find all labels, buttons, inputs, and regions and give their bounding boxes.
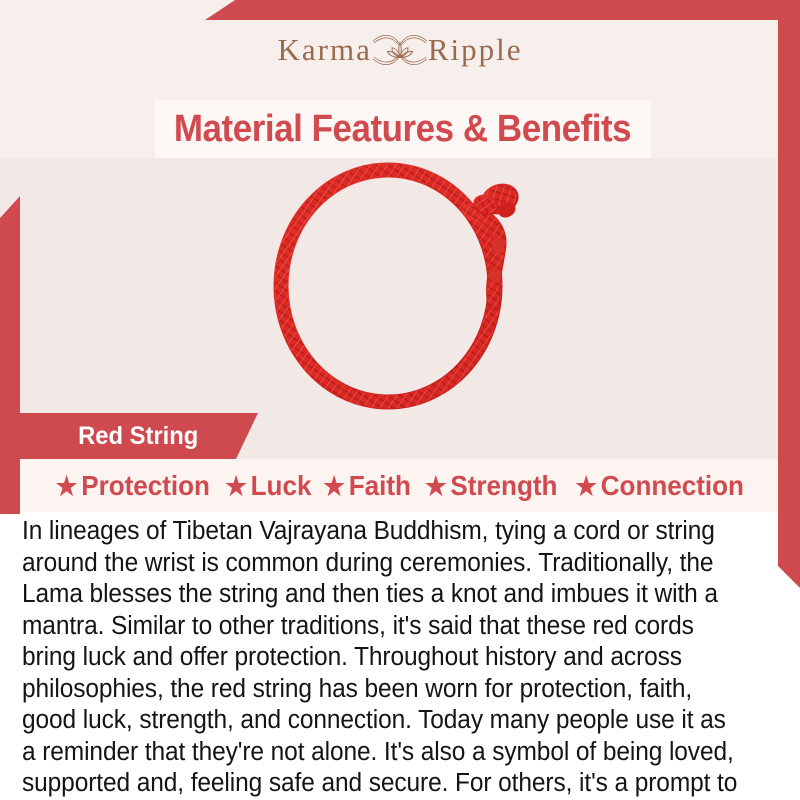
benefit-item-strength: ★Strength bbox=[423, 470, 561, 502]
infographic-page: Karma bbox=[0, 0, 800, 800]
material-name-label: Red String bbox=[78, 422, 198, 451]
benefit-item-connection: ★Connection bbox=[572, 470, 746, 502]
brand-logo: Karma bbox=[277, 28, 522, 72]
description-paragraph: In lineages of Tibetan Vajrayana Buddhis… bbox=[22, 512, 744, 800]
star-icon: ★ bbox=[225, 473, 247, 499]
brand-header: Karma bbox=[0, 0, 800, 100]
benefit-item-protection: ★Protection bbox=[53, 470, 213, 502]
brand-name-right: Ripple bbox=[428, 32, 523, 68]
benefit-label: Luck bbox=[250, 470, 311, 502]
brand-name-left: Karma bbox=[277, 32, 371, 68]
star-icon: ★ bbox=[56, 473, 78, 499]
lotus-flourish-icon bbox=[372, 28, 428, 72]
star-icon: ★ bbox=[425, 473, 447, 499]
star-icon: ★ bbox=[324, 473, 346, 499]
material-name-ribbon: Red String bbox=[18, 413, 258, 459]
benefits-list: ★Protection★Luck★Faith★Strength★Connecti… bbox=[0, 459, 800, 512]
benefit-label: Strength bbox=[451, 470, 558, 502]
page-title: Material Features & Benefits bbox=[174, 108, 631, 151]
section-title-band: Material Features & Benefits bbox=[155, 100, 651, 158]
benefit-label: Faith bbox=[349, 470, 411, 502]
benefit-label: Connection bbox=[601, 470, 744, 502]
product-image-region bbox=[0, 158, 800, 413]
red-string-bracelet-image bbox=[255, 158, 545, 413]
benefit-item-luck: ★Luck bbox=[222, 470, 314, 502]
star-icon: ★ bbox=[575, 473, 597, 499]
benefit-item-faith: ★Faith bbox=[321, 470, 414, 502]
benefit-label: Protection bbox=[81, 470, 210, 502]
